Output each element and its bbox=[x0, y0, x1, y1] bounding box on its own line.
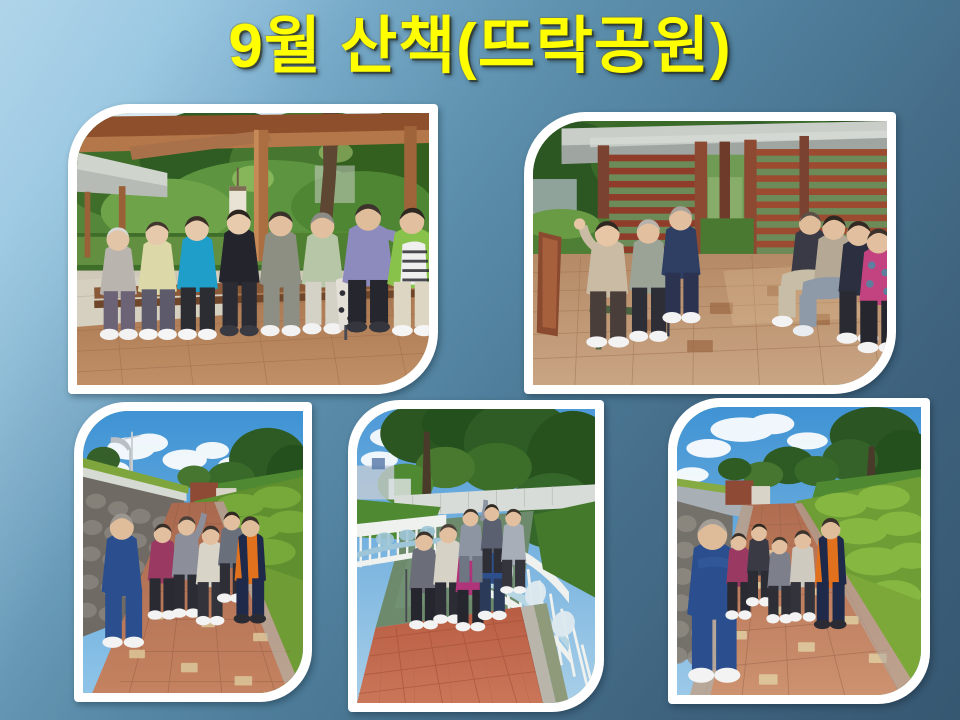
photo-1-image: Eight elderly people sitting together on… bbox=[77, 113, 429, 385]
photo-frame-1[interactable]: Eight elderly people sitting together on… bbox=[68, 104, 438, 394]
photo-3-image: Seniors walking along a red brick paved … bbox=[83, 411, 303, 693]
photo-4-image: Seniors walking down a green surfaced ra… bbox=[357, 409, 595, 703]
photo-2-image: Group of elderly people seated on benche… bbox=[533, 121, 887, 385]
page-title: 9월 산책(뜨락공원) bbox=[0, 14, 960, 79]
slide-canvas: 9월 산책(뜨락공원) bbox=[0, 0, 960, 720]
photo-frame-4[interactable]: Seniors walking down a green surfaced ra… bbox=[348, 400, 604, 712]
photo-frame-5[interactable]: Wider view of seniors walking up the red… bbox=[668, 398, 930, 704]
photo-frame-2[interactable]: Group of elderly people seated on benche… bbox=[524, 112, 896, 394]
photo-frame-3[interactable]: Seniors walking along a red brick paved … bbox=[74, 402, 312, 702]
photo-5-image: Wider view of seniors walking up the red… bbox=[677, 407, 921, 695]
